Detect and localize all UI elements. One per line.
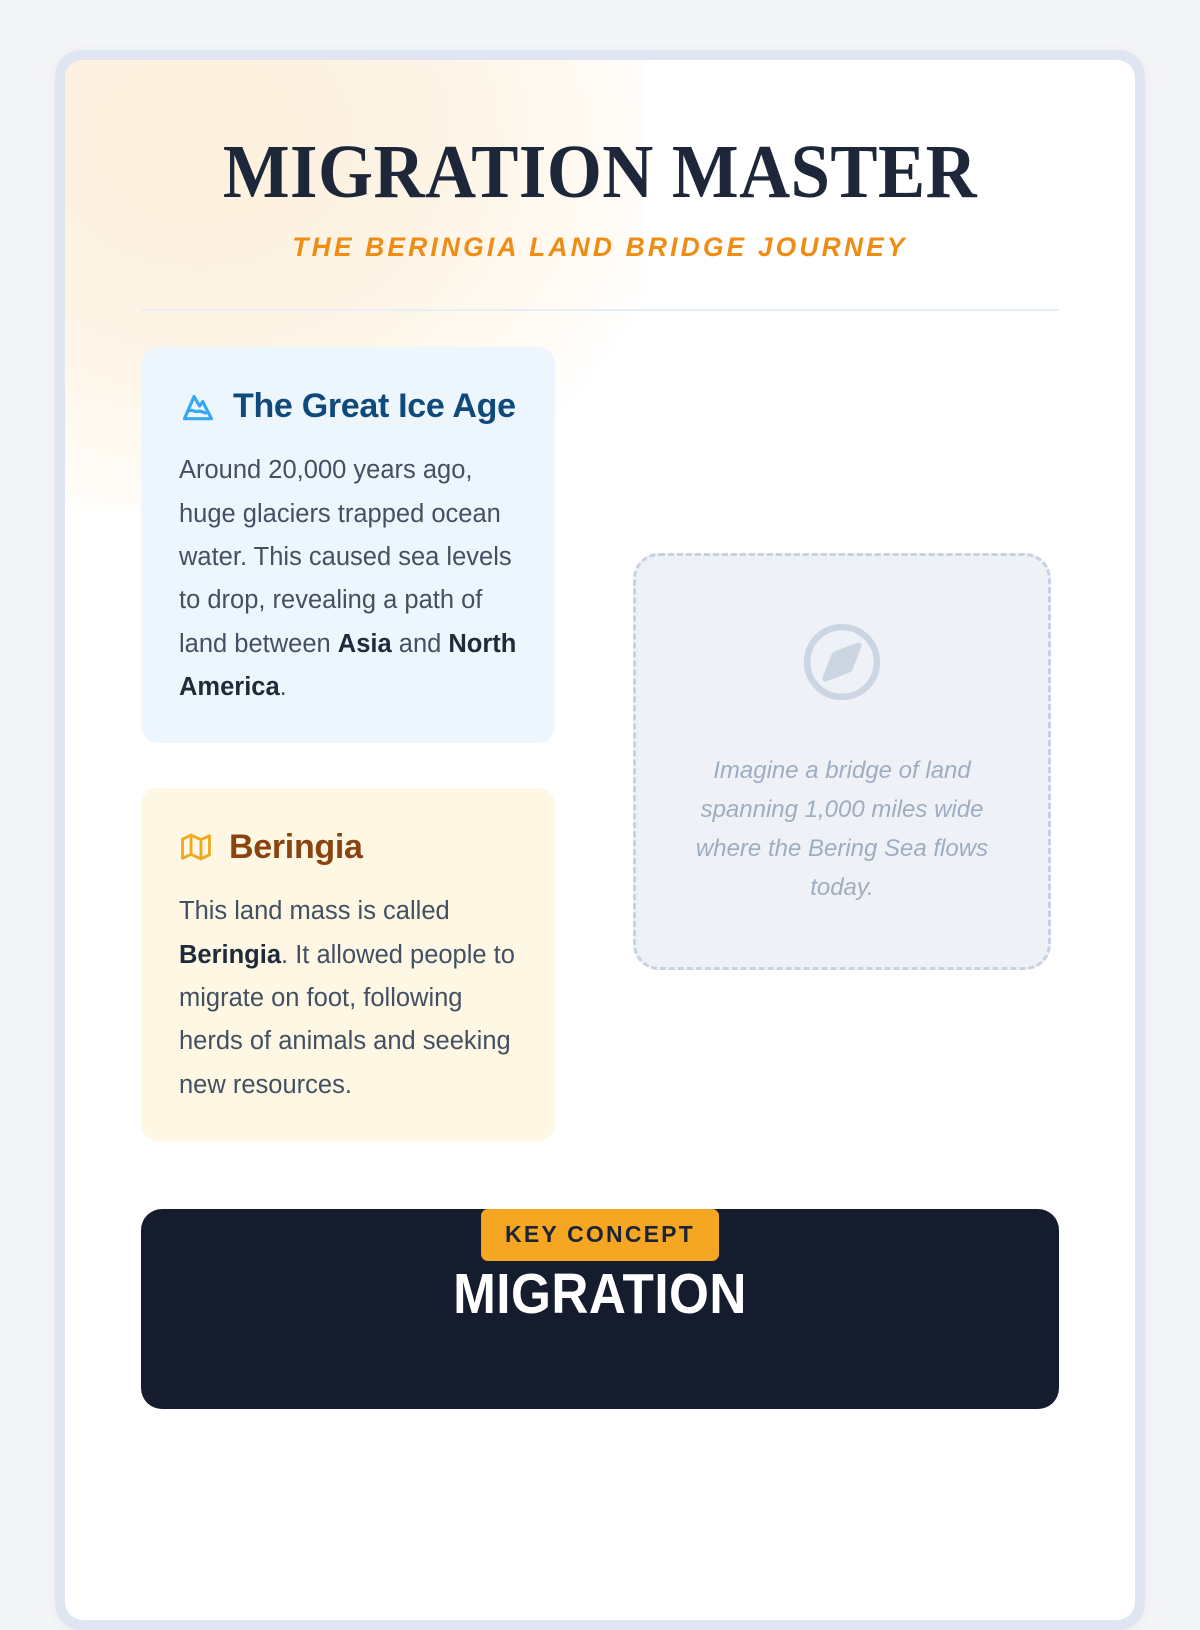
info-card-beringia: Beringia This land mass is called Bering…: [141, 788, 555, 1141]
ice-age-text-1: Around 20,000 years ago, huge glaciers t…: [179, 456, 512, 657]
content-grid: The Great Ice Age Around 20,000 years ag…: [141, 311, 1059, 1141]
info-card-ice-age: The Great Ice Age Around 20,000 years ag…: [141, 347, 555, 743]
page-card: MIGRATION MASTER THE BERINGIA LAND BRIDG…: [65, 60, 1135, 1620]
page-title: MIGRATION MASTER: [173, 134, 1027, 210]
right-column: Imagine a bridge of land spanning 1,000 …: [633, 347, 1059, 970]
key-concept-word: MIGRATION: [223, 1261, 977, 1327]
left-column: The Great Ice Age Around 20,000 years ag…: [141, 347, 555, 1141]
mountain-icon: [179, 387, 217, 425]
card-header-ice-age: The Great Ice Age: [179, 385, 517, 427]
ice-age-bold-asia: Asia: [338, 630, 392, 658]
card-body-beringia: This land mass is called Beringia. It al…: [179, 890, 517, 1107]
header: MIGRATION MASTER THE BERINGIA LAND BRIDG…: [141, 60, 1059, 311]
app-frame: MIGRATION MASTER THE BERINGIA LAND BRIDG…: [55, 50, 1145, 1630]
card-title-beringia: Beringia: [229, 826, 363, 868]
beringia-bold-term: Beringia: [179, 941, 281, 969]
illustration-placeholder: Imagine a bridge of land spanning 1,000 …: [633, 553, 1051, 970]
page-subtitle: THE BERINGIA LAND BRIDGE JOURNEY: [150, 232, 1050, 263]
key-concept-badge: KEY CONCEPT: [481, 1209, 719, 1261]
ice-age-text-3: .: [280, 673, 287, 701]
card-title-ice-age: The Great Ice Age: [233, 385, 516, 427]
map-icon: [179, 830, 213, 864]
card-header-beringia: Beringia: [179, 826, 517, 868]
illustration-caption: Imagine a bridge of land spanning 1,000 …: [678, 751, 1006, 907]
key-concept-section: KEY CONCEPT MIGRATION: [141, 1209, 1059, 1409]
card-body-ice-age: Around 20,000 years ago, huge glaciers t…: [179, 449, 517, 709]
beringia-text-1: This land mass is called: [179, 897, 450, 925]
compass-icon: [796, 616, 888, 713]
ice-age-text-2: and: [392, 630, 449, 658]
